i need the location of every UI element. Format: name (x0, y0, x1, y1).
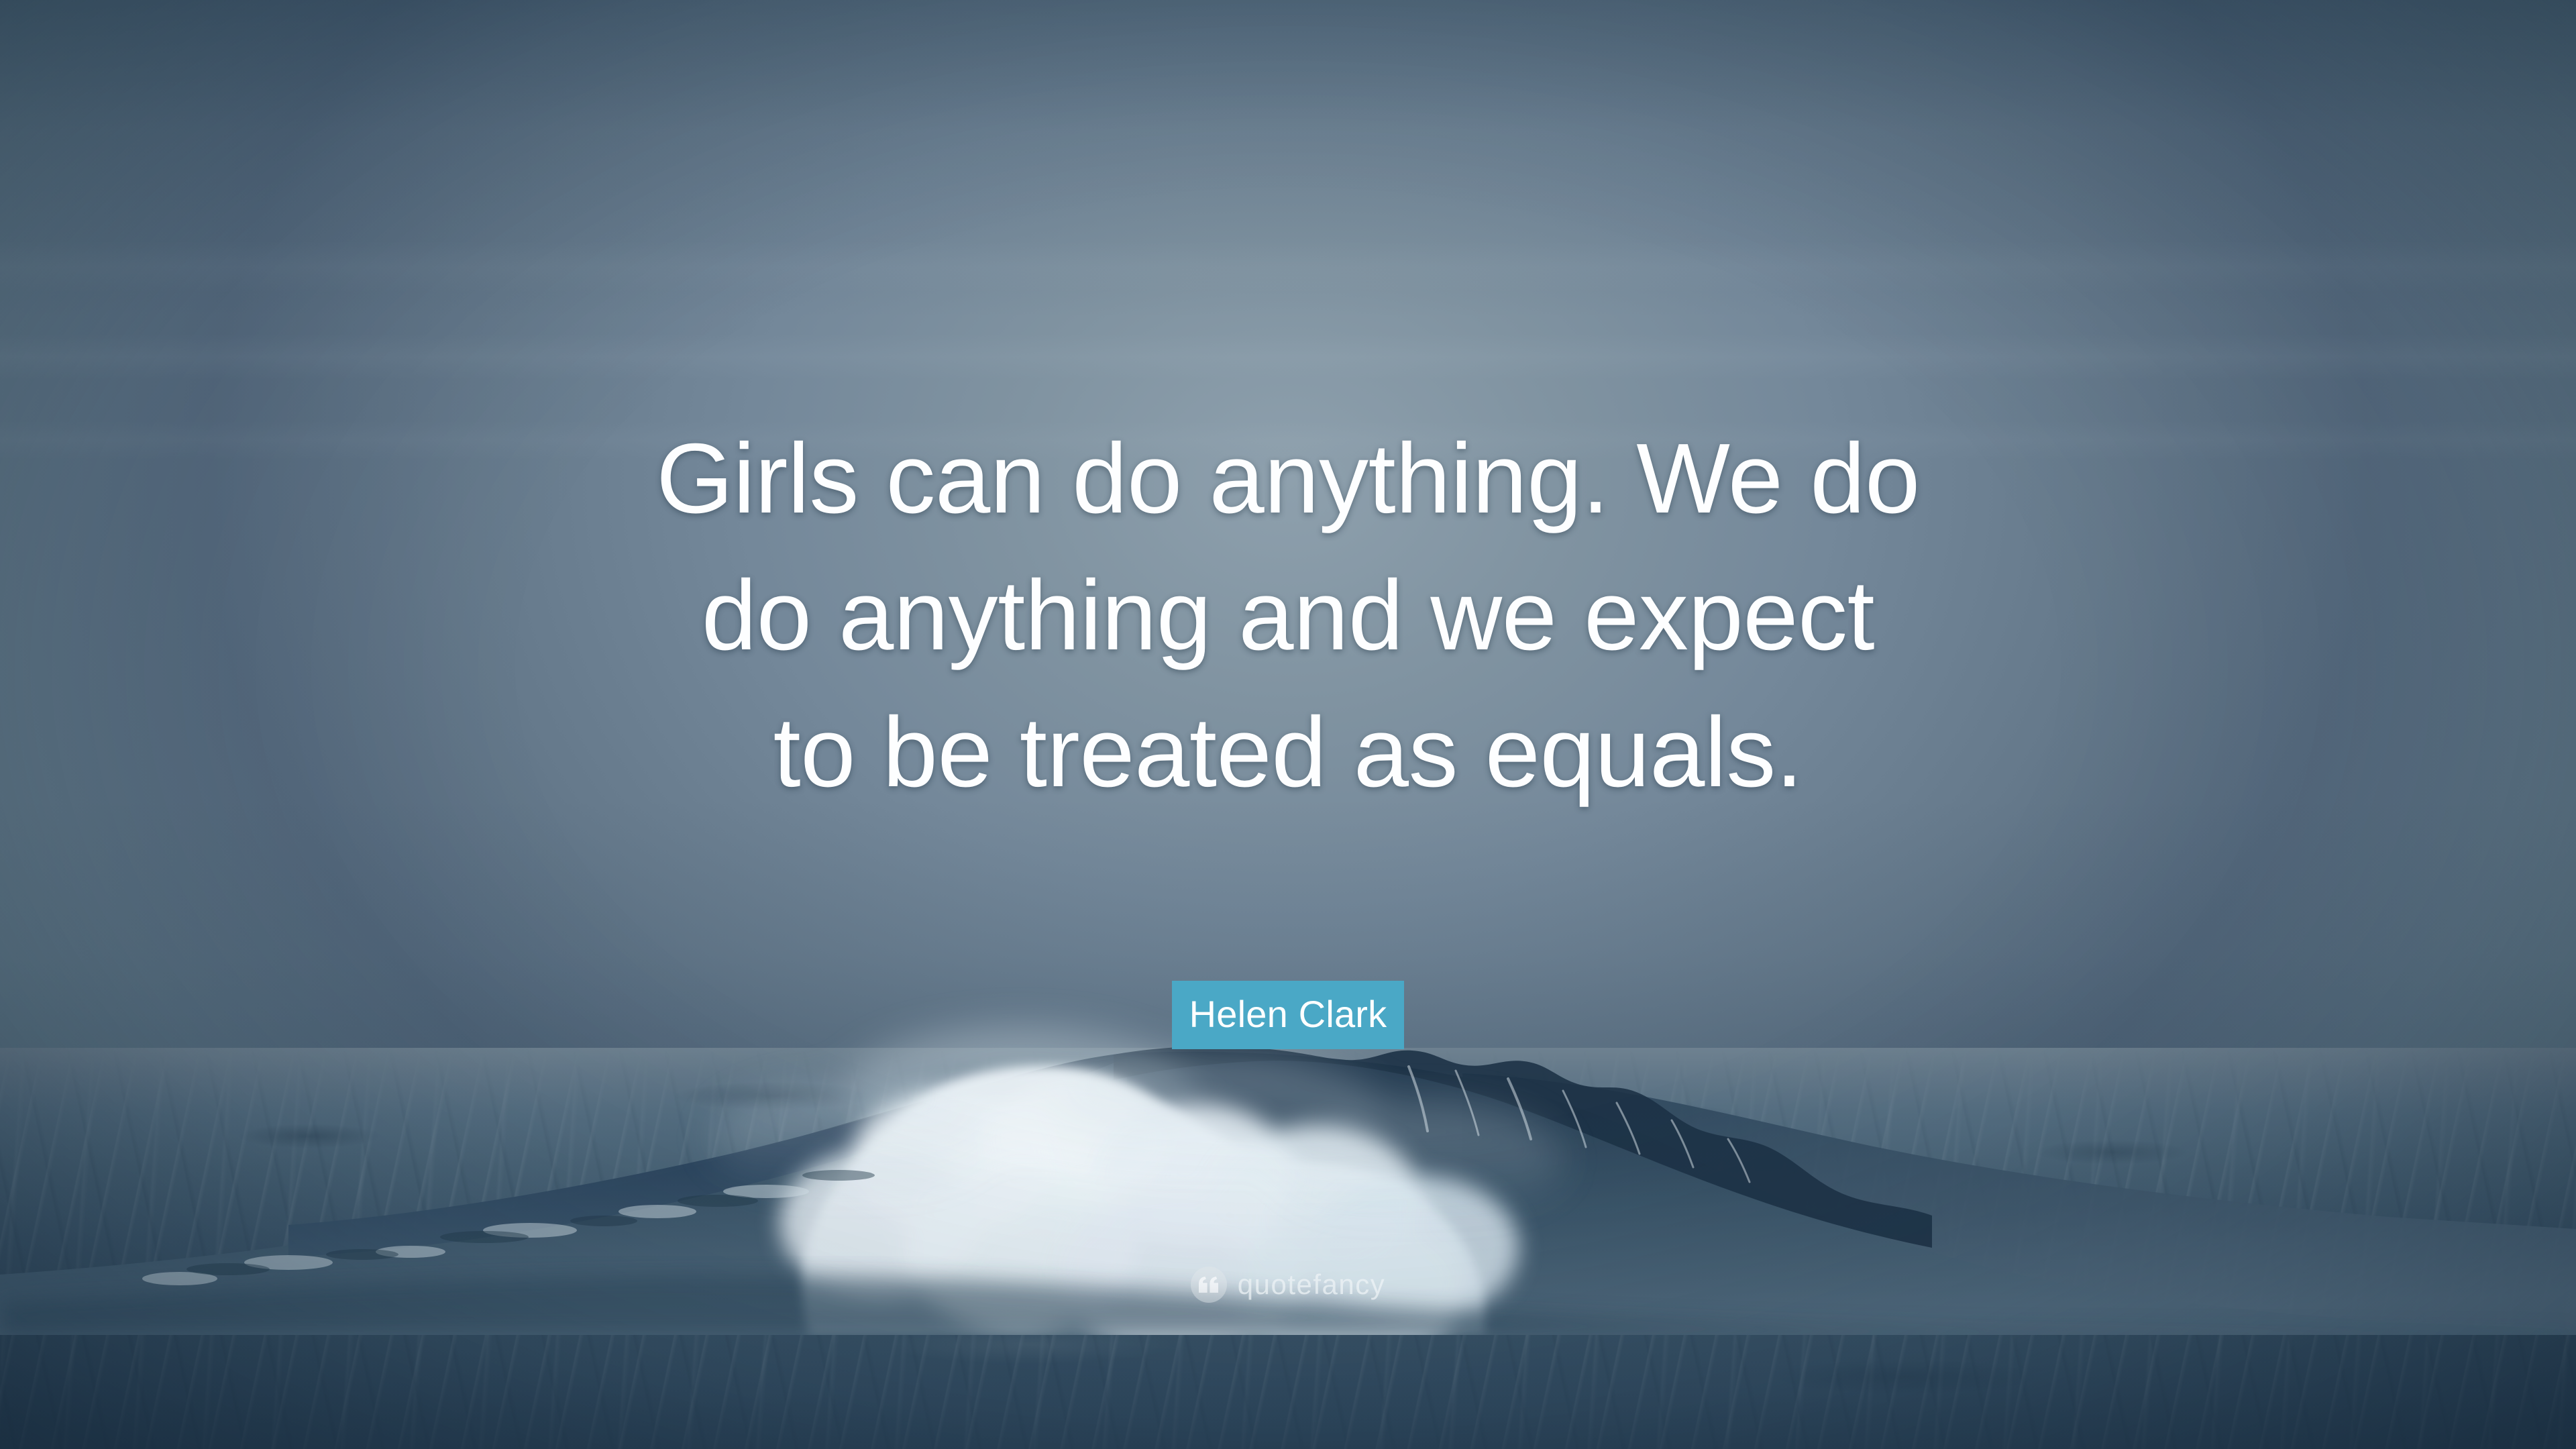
quote-line-1: Girls can do anything. We do (201, 411, 2375, 547)
quote-line-2: do anything and we expect (201, 547, 2375, 684)
quotefancy-watermark[interactable]: quotefancy (0, 1267, 2576, 1303)
author-attribution: Helen Clark (0, 981, 2576, 1049)
quote-text: Girls can do anything. We do do anything… (0, 411, 2576, 822)
author-name-badge: Helen Clark (1172, 981, 1405, 1049)
quote-mark-icon (1191, 1267, 1227, 1303)
quotefancy-brand-label: quotefancy (1238, 1271, 1386, 1299)
quote-poster: Girls can do anything. We do do anything… (0, 0, 2576, 1449)
quote-line-3: to be treated as equals. (201, 684, 2375, 821)
